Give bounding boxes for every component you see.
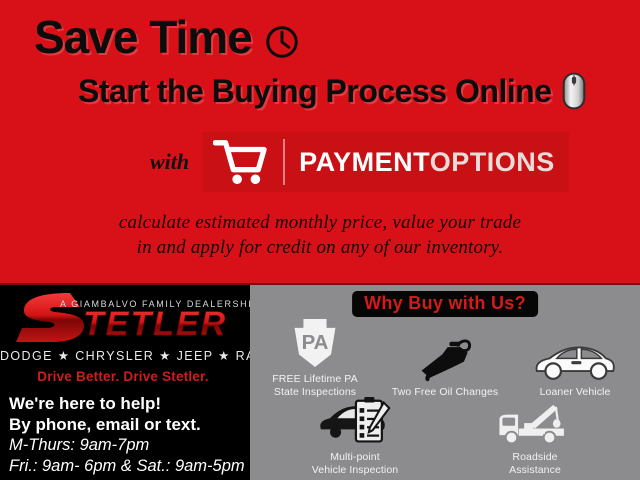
hero-tagline: calculate estimated monthly price, value… [0,210,640,260]
hours-line-2: Fri.: 9am- 6pm & Sat.: 9am-5pm [9,456,246,477]
dealer-slogan: Drive Better. Drive Stetler. [0,369,246,384]
svg-text:PA: PA [302,331,329,354]
headline-primary: Save Time [34,12,300,62]
perk-caption-line-1: FREE Lifetime PA [256,373,374,386]
hours-line-1: M-Thurs: 9am-7pm [9,435,246,456]
perk-row-bottom: Multi-point Vehicle Inspection [250,395,640,476]
help-line-2: By phone, email or text. [9,414,246,435]
stetler-logo-icon: TETLER [8,287,238,347]
perk-row-top: PA FREE Lifetime PA State Inspections [250,317,640,398]
perk-caption-line-1: Multi-point [296,451,414,464]
car-icon [516,330,634,382]
headline-primary-text: Save Time [34,12,252,62]
dealer-contact-block: We're here to help! By phone, email or t… [0,393,246,477]
mouse-icon [562,72,586,110]
shopping-cart-icon [213,138,269,186]
clock-icon [264,19,300,55]
tow-truck-icon [476,395,594,447]
perk-pa-inspection: PA FREE Lifetime PA State Inspections [256,317,374,398]
pa-keystone-icon: PA [256,317,374,369]
help-line-1: We're here to help! [9,393,246,414]
perk-caption: Roadside Assistance [476,451,594,476]
payment-options-lockup: with PAYMENTOPTIONS [150,132,569,192]
perk-caption-line-2: Assistance [476,464,594,477]
badge-divider [283,139,285,185]
perk-oil-changes: Two Free Oil Changes [386,330,504,399]
wordmark-payment: PAYMENT [299,147,430,177]
perk-multipoint-inspection: Multi-point Vehicle Inspection [296,395,414,476]
dealer-panel: TETLER A GIAMBALVO FAMILY DEALERSHIP DOD… [0,285,246,480]
hero-panel: Save Time Start the Buying Process Onlin… [0,0,640,285]
payment-options-badge: PAYMENTOPTIONS [203,132,569,192]
why-buy-banner: Why Buy with Us? [352,291,538,317]
advertisement-banner: Save Time Start the Buying Process Onlin… [0,0,640,480]
perk-caption-line-2: Vehicle Inspection [296,464,414,477]
perk-caption-line-1: Roadside [476,451,594,464]
wordmark-options: OPTIONS [430,147,555,177]
headline-secondary: Start the Buying Process Online [78,72,586,110]
payment-options-wordmark: PAYMENTOPTIONS [299,147,555,178]
headline-secondary-text: Start the Buying Process Online [78,73,552,109]
why-buy-panel: Why Buy with Us? PA FREE Lifetime PA Sta… [250,285,640,480]
perk-roadside-assistance: Roadside Assistance [476,395,594,476]
svg-text:A GIAMBALVO FAMILY DEALERSHIP: A GIAMBALVO FAMILY DEALERSHIP [60,299,260,309]
hero-tagline-line-2: in and apply for credit on any of our in… [0,235,640,260]
perk-caption: Multi-point Vehicle Inspection [296,451,414,476]
oil-can-icon [386,330,504,382]
hero-tagline-line-1: calculate estimated monthly price, value… [0,210,640,235]
dealer-logo: TETLER A GIAMBALVO FAMILY DEALERSHIP [0,285,246,347]
inspection-checklist-icon [296,395,414,447]
with-label: with [150,149,189,175]
perk-loaner-vehicle: Loaner Vehicle [516,330,634,399]
dealer-brands: DODGE ★ CHRYSLER ★ JEEP ★ RAM [0,348,246,363]
